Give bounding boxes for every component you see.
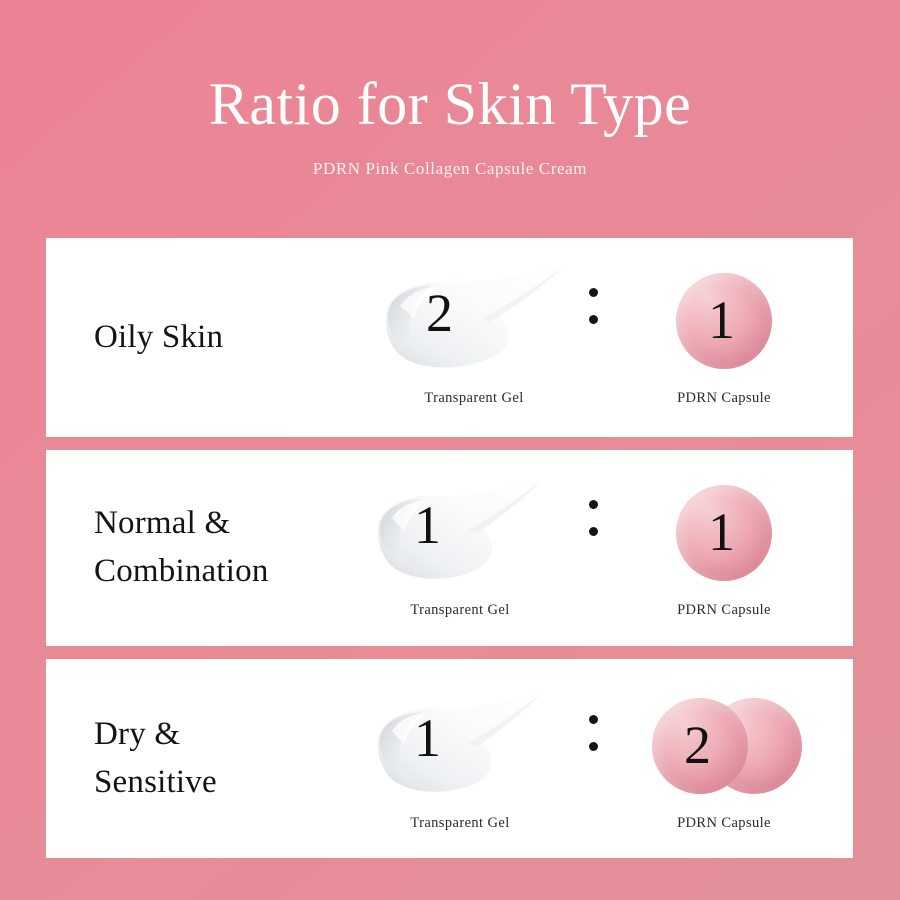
skin-type-line: Dry & — [94, 711, 346, 759]
gel-visual-oily: 2 — [364, 262, 584, 380]
page-subtitle: PDRN Pink Collagen Capsule Cream — [313, 159, 587, 179]
capsule-amount-normal: 1 — [708, 505, 735, 559]
capsule-sphere-group — [614, 687, 834, 805]
ratio-card-dry-sensitive: Dry & Sensitive — [46, 659, 853, 858]
skin-type-line: Sensitive — [94, 759, 346, 807]
capsule-amount-oily: 1 — [708, 293, 735, 347]
gel-slot-oily: 2 Transparent Gel — [364, 262, 584, 407]
gel-slot-normal: 1 Transparent Gel — [350, 474, 570, 619]
capsule-slot-dry: 2 PDRN Capsule — [614, 687, 834, 832]
gel-amount-dry: 1 — [414, 711, 441, 765]
colon-dot-top — [589, 288, 598, 297]
capsule-amount-dry: 2 — [684, 718, 711, 772]
gel-caption-dry: Transparent Gel — [410, 815, 509, 832]
capsule-visual-oily: 1 — [614, 262, 834, 380]
gel-amount-oily: 2 — [426, 286, 453, 340]
gel-swatch-icon — [364, 262, 584, 380]
colon-dot-top — [589, 500, 598, 509]
capsule-visual-dry: 2 — [614, 687, 834, 805]
colon-dot-bottom — [589, 742, 598, 751]
gel-caption-normal: Transparent Gel — [410, 602, 509, 619]
skin-type-line: Combination — [94, 548, 346, 596]
skin-type-label-normal: Normal & Combination — [46, 500, 346, 596]
colon-dot-bottom — [589, 527, 598, 536]
skin-type-label-dry: Dry & Sensitive — [46, 711, 346, 807]
ratio-card-normal-combination: Normal & Combination — [46, 450, 853, 646]
capsule-caption-normal: PDRN Capsule — [677, 602, 771, 619]
skin-type-line: Oily Skin — [94, 314, 346, 362]
gel-amount-normal: 1 — [414, 498, 441, 552]
gel-caption-oily: Transparent Gel — [424, 390, 523, 407]
skin-type-line: Normal & — [94, 500, 346, 548]
page-header: Ratio for Skin Type PDRN Pink Collagen C… — [0, 0, 900, 238]
gel-swatch-icon — [350, 474, 570, 592]
colon-dot-bottom — [589, 315, 598, 324]
ratio-card-oily-skin: Oily Skin — [46, 238, 853, 437]
ratio-card-list: Oily Skin — [46, 238, 853, 858]
capsule-caption-dry: PDRN Capsule — [677, 815, 771, 832]
gel-visual-normal: 1 — [350, 474, 570, 592]
ratio-group-dry: 1 Transparent Gel 2 — [346, 659, 853, 858]
page-title: Ratio for Skin Type — [209, 72, 692, 137]
skin-type-label-oily: Oily Skin — [46, 314, 346, 362]
ratio-separator-oily — [589, 288, 598, 324]
gel-slot-dry: 1 Transparent Gel — [350, 687, 570, 832]
colon-dot-top — [589, 715, 598, 724]
ratio-group-oily: 2 Transparent Gel 1 — [346, 238, 853, 437]
infographic-page: Ratio for Skin Type PDRN Pink Collagen C… — [0, 0, 900, 900]
ratio-group-normal: 1 Transparent Gel 1 PDRN Capsule — [346, 450, 853, 646]
capsule-visual-normal: 1 — [614, 474, 834, 592]
gel-visual-dry: 1 — [350, 687, 570, 805]
ratio-separator-normal — [589, 500, 598, 536]
capsule-slot-oily: 1 PDRN Capsule — [614, 262, 834, 407]
capsule-caption-oily: PDRN Capsule — [677, 390, 771, 407]
ratio-separator-dry — [589, 715, 598, 751]
gel-swatch-icon — [350, 687, 570, 805]
capsule-slot-normal: 1 PDRN Capsule — [614, 474, 834, 619]
